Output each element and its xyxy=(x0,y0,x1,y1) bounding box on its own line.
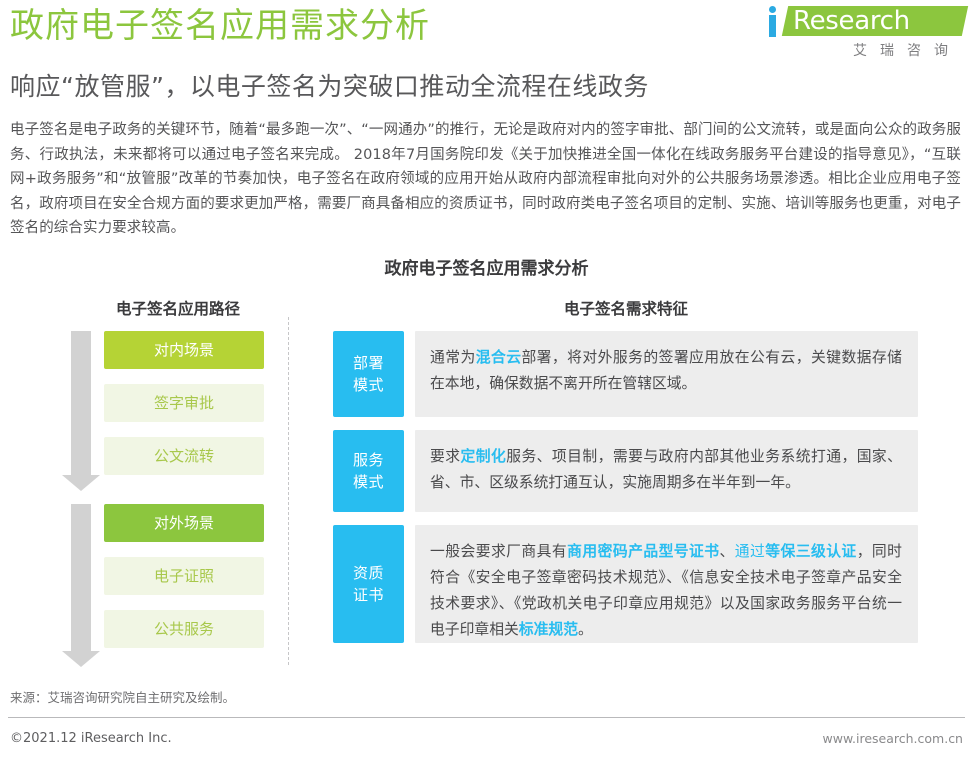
column-header-right: 电子签名需求特征 xyxy=(334,297,918,319)
feature-cards: 部署 模式 通常为混合云部署，将对外服务的签署应用放在公有云，关键数据存储在本地… xyxy=(333,331,918,656)
feature-card-label: 部署 模式 xyxy=(333,331,404,417)
feature-card-text: 通常为混合云部署，将对外服务的签署应用放在公有云，关键数据存储在本地，确保数据不… xyxy=(415,331,918,417)
flow-group-header-internal[interactable]: 对内场景 xyxy=(104,331,264,369)
highlighted-text: 等保三级认证 xyxy=(765,543,856,560)
highlighted-text: 通过 xyxy=(735,543,765,560)
highlighted-text: 商用密码产品型号证书 xyxy=(567,543,719,560)
copyright-text: ©2021.12 iResearch Inc. xyxy=(10,731,172,746)
logo-mark: Research xyxy=(767,4,965,38)
highlighted-text: 标准规范 xyxy=(519,621,578,638)
website-url[interactable]: www.iresearch.com.cn xyxy=(823,731,964,746)
feature-card-deployment[interactable]: 部署 模式 通常为混合云部署，将对外服务的签署应用放在公有云，关键数据存储在本地… xyxy=(333,331,918,417)
logo-wordmark: Research xyxy=(793,5,910,37)
column-headers: 电子签名应用路径 电子签名需求特征 xyxy=(0,297,973,331)
feature-label-line1: 资质 xyxy=(353,562,384,584)
flow-arrow-down-2 xyxy=(62,504,100,667)
flow-item-internal-1[interactable]: 签字审批 xyxy=(104,384,264,422)
page-header: 政府电子签名应用需求分析 响应“放管服”，以电子签名为突破口推动全流程在线政务 … xyxy=(0,0,973,118)
flow-item-external-2[interactable]: 公共服务 xyxy=(104,610,264,648)
logo-i-dot-icon xyxy=(769,6,776,13)
logo-i-stem-icon xyxy=(769,15,776,37)
feature-label-line2: 证书 xyxy=(353,584,384,606)
column-header-left: 电子签名应用路径 xyxy=(68,297,288,319)
page-subtitle: 响应“放管服”，以电子签名为突破口推动全流程在线政务 xyxy=(10,70,649,104)
feature-card-label: 资质 证书 xyxy=(333,525,404,643)
flow-column: 对内场景 签字审批 公文流转 对外场景 电子证照 公共服务 xyxy=(0,331,288,667)
feature-card-qualification[interactable]: 资质 证书 一般会要求厂商具有商用密码产品型号证书、通过等保三级认证，同时符合《… xyxy=(333,525,918,643)
logo-chinese-name: 艾瑞咨询 xyxy=(771,40,961,60)
highlighted-text: 定制化 xyxy=(460,448,506,465)
highlighted-text: 混合云 xyxy=(476,349,522,366)
feature-card-text: 要求定制化服务、项目制，需要与政府内部其他业务系统打通，国家、省、市、区级系统打… xyxy=(415,430,918,512)
body-text: 。 xyxy=(578,621,593,638)
body-text: 要求 xyxy=(430,448,460,465)
feature-card-text: 一般会要求厂商具有商用密码产品型号证书、通过等保三级认证，同时符合《安全电子签章… xyxy=(415,525,918,643)
flow-arrow-down-1 xyxy=(62,331,100,491)
footer-divider xyxy=(8,717,965,718)
page-title: 政府电子签名应用需求分析 xyxy=(10,4,430,48)
chart-title: 政府电子签名应用需求分析 xyxy=(0,254,973,279)
flow-item-internal-2[interactable]: 公文流转 xyxy=(104,437,264,475)
source-note: 来源：艾瑞咨询研究院自主研究及绘制。 xyxy=(10,687,235,706)
body-text: 一般会要求厂商具有 xyxy=(430,543,567,560)
chart-body: 对内场景 签字审批 公文流转 对外场景 电子证照 公共服务 部署 模式 通常为混… xyxy=(0,331,973,667)
feature-card-label: 服务 模式 xyxy=(333,430,404,512)
feature-label-line2: 模式 xyxy=(353,471,384,493)
flow-group-header-external[interactable]: 对外场景 xyxy=(104,504,264,542)
feature-label-line1: 部署 xyxy=(353,352,384,374)
intro-paragraph: 电子签名是电子政务的关键环节，随着“最多跑一次”、“一网通办”的推行，无论是政府… xyxy=(0,118,973,241)
feature-label-line2: 模式 xyxy=(353,374,384,396)
body-text: 、 xyxy=(720,543,735,560)
vertical-dashed-divider xyxy=(288,317,289,665)
feature-card-service[interactable]: 服务 模式 要求定制化服务、项目制，需要与政府内部其他业务系统打通，国家、省、市… xyxy=(333,430,918,512)
body-text: 通常为 xyxy=(430,349,476,366)
feature-label-line1: 服务 xyxy=(353,449,384,471)
iresearch-logo: Research 艾瑞咨询 xyxy=(767,4,965,62)
flow-item-external-1[interactable]: 电子证照 xyxy=(104,557,264,595)
